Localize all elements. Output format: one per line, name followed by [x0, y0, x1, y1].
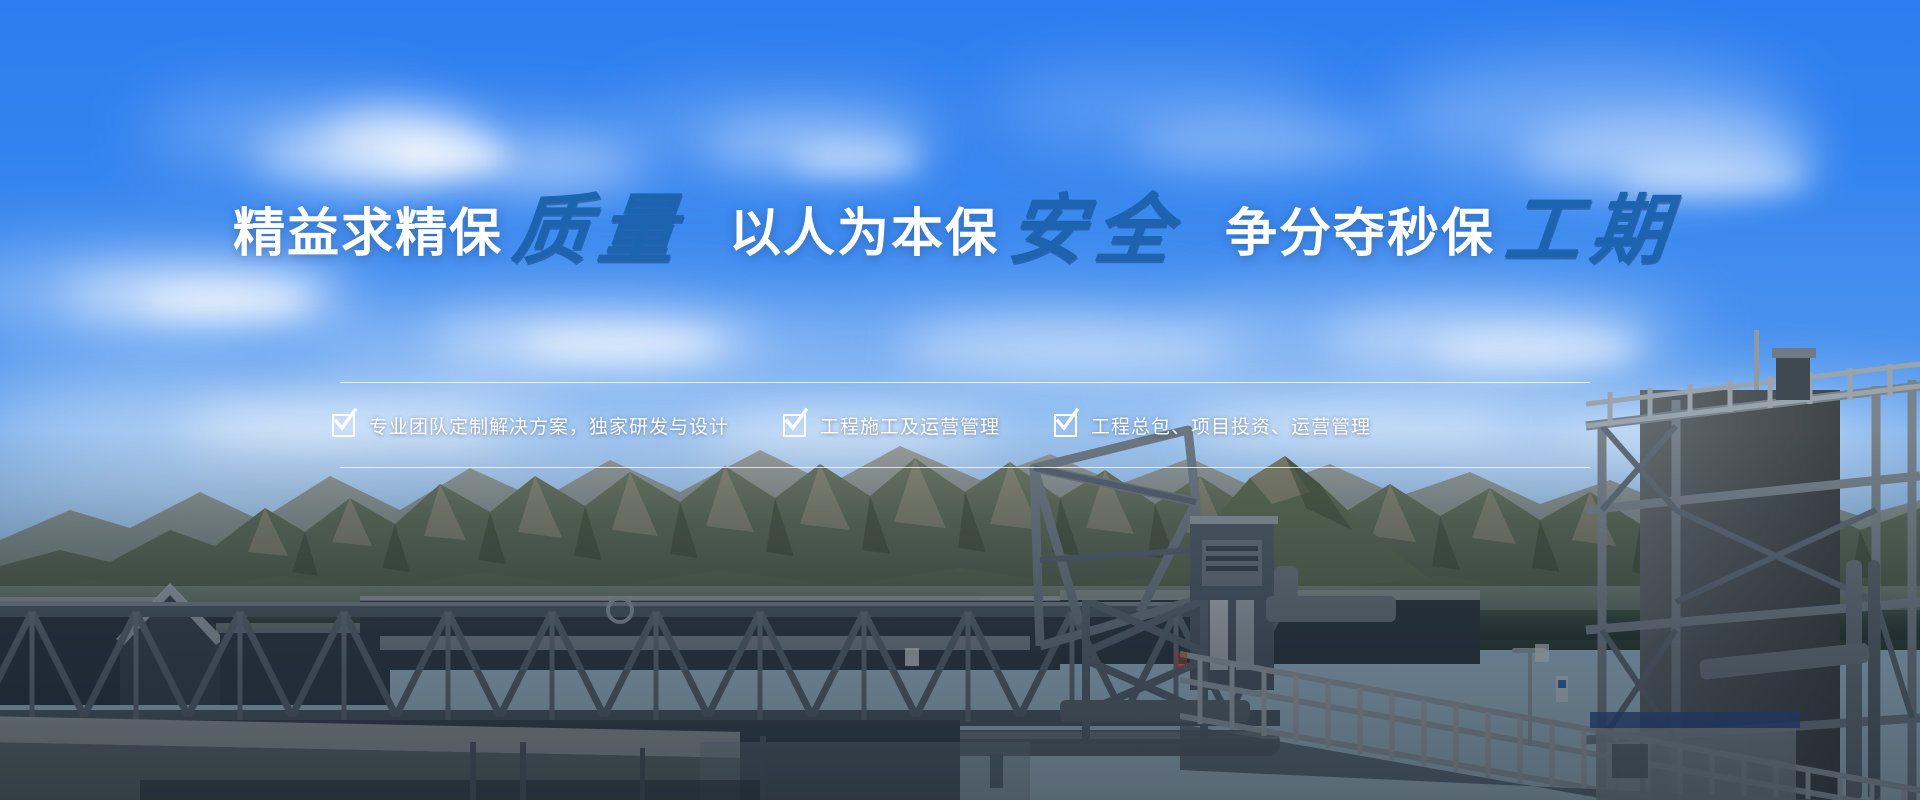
headline-segment-5: 争分夺秒保: [1225, 208, 1495, 260]
headline-segment-6-brush: 工期: [1491, 192, 1691, 268]
feature-label-1: 专业团队定制解决方案，独家研发与设计: [369, 412, 729, 439]
hero-banner: 精益求精保 质量 以人为本保 安全 争分夺秒保 工期 专业团队定制解决方案，独家…: [0, 0, 1920, 800]
divider-top: [340, 382, 1590, 383]
check-mark-icon: [332, 407, 358, 433]
feature-list: 专业团队定制解决方案，独家研发与设计 工程施工及运营管理 工程总包、项目投资、运…: [340, 397, 1590, 453]
feature-item-1: 专业团队定制解决方案，独家研发与设计: [332, 412, 729, 439]
checkbox-checked-icon: [783, 414, 806, 437]
feature-label-3: 工程总包、项目投资、运营管理: [1091, 412, 1371, 439]
checkbox-checked-icon: [1054, 414, 1077, 437]
headline-segment-4-brush: 安全: [995, 192, 1195, 268]
headline: 精益求精保 质量 以人为本保 安全 争分夺秒保 工期: [0, 196, 1920, 272]
divider-bottom: [340, 467, 1590, 468]
banner-content: 精益求精保 质量 以人为本保 安全 争分夺秒保 工期 专业团队定制解决方案，独家…: [0, 0, 1920, 800]
feature-item-2: 工程施工及运营管理: [783, 412, 1000, 439]
check-mark-icon: [783, 407, 809, 433]
headline-segment-2-brush: 质量: [499, 192, 699, 268]
feature-item-3: 工程总包、项目投资、运营管理: [1054, 412, 1371, 439]
checkbox-checked-icon: [332, 414, 355, 437]
headline-segment-3: 以人为本保: [729, 208, 999, 260]
headline-segment-1: 精益求精保: [233, 208, 503, 260]
check-mark-icon: [1054, 407, 1080, 433]
feature-label-2: 工程施工及运营管理: [820, 412, 1000, 439]
